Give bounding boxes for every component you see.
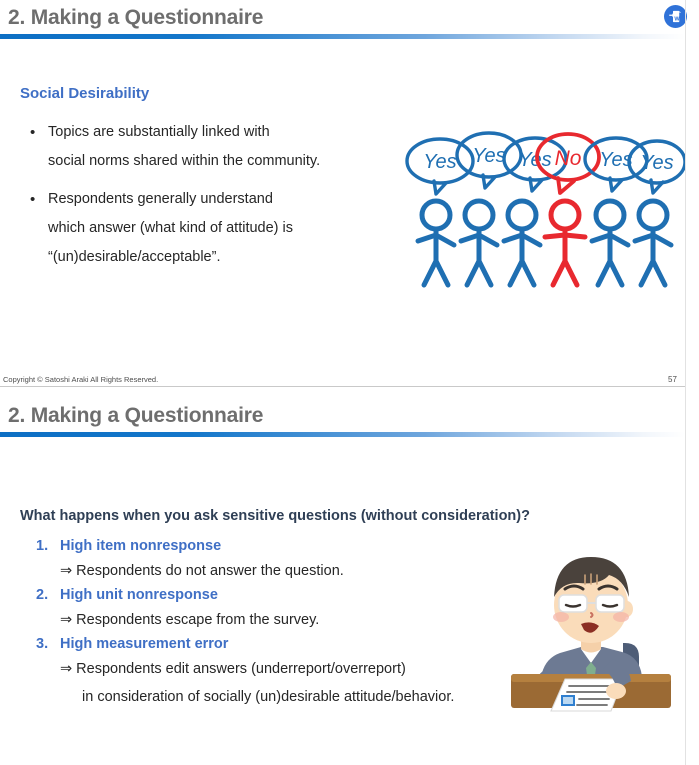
svg-text:Yes: Yes [640,152,673,174]
svg-text:Yes: Yes [423,151,456,173]
list-item: • Respondents generally understand which… [22,185,394,272]
list-item-detail-text: Respondents escape from the survey. [76,612,319,628]
yes-no-stick-figures-illustration: Yes Yes Yes [404,117,686,289]
list-item-detail: ⇒Respondents do not answer the question. [36,557,516,585]
word-export-icon[interactable]: W [664,5,687,28]
bullet-line: Respondents generally understand [48,185,394,214]
list-item: 2.High unit nonresponse ⇒Respondents esc… [36,585,516,634]
slide-2-title-rule [0,432,685,437]
slide-2-numbered-list: 1.High item nonresponse ⇒Respondents do … [36,536,516,711]
slide-1-bullet-list: • Topics are substantially linked with s… [22,118,394,281]
slide-deck: 2. Making a Questionnaire W Social Desir… [0,0,699,765]
double-arrow-icon: ⇒ [60,612,72,628]
svg-text:Yes: Yes [518,149,551,171]
list-item-title: High item nonresponse [60,538,221,554]
svg-text:Yes: Yes [472,145,505,167]
bullet-line: “(un)desirable/acceptable”. [48,243,394,272]
list-item-heading: 3.High measurement error [36,634,516,655]
double-arrow-icon: ⇒ [60,661,72,677]
list-item-number: 3. [36,634,60,655]
list-item-number: 2. [36,585,60,606]
list-item-number: 1. [36,536,60,557]
list-item-heading: 2.High unit nonresponse [36,585,516,606]
social-desirability-heading: Social Desirability [20,85,149,102]
right-edge-divider [685,0,686,765]
bullet-dot-icon: • [30,185,35,214]
list-item: 3.High measurement error ⇒Respondents ed… [36,634,516,711]
list-item: 1.High item nonresponse ⇒Respondents do … [36,536,516,585]
bullet-line: social norms shared within the community… [48,147,394,176]
bullet-line: Topics are substantially linked with [48,118,394,147]
footer-copyright: Copyright © Satoshi Araki All Rights Res… [3,375,158,384]
slide-2-title: 2. Making a Questionnaire [8,404,263,428]
list-item-title: High measurement error [60,636,228,652]
slide-social-desirability: 2. Making a Questionnaire W Social Desir… [0,0,699,394]
list-item-detail-text: Respondents edit answers (underreport/ov… [76,661,406,677]
sensitive-questions-heading: What happens when you ask sensitive ques… [20,508,530,524]
list-item-detail: ⇒Respondents edit answers (underreport/o… [36,655,516,683]
bullet-dot-icon: • [30,118,35,147]
list-item-title: High unit nonresponse [60,587,218,603]
slide-separator [0,386,685,387]
slide-1-title: 2. Making a Questionnaire [8,6,263,30]
list-item-heading: 1.High item nonresponse [36,536,516,557]
slide-1-title-rule [0,34,685,39]
svg-text:W: W [674,16,680,22]
list-item-detail: ⇒Respondents escape from the survey. [36,606,516,634]
bullet-line: which answer (what kind of attitude) is [48,214,394,243]
footer-page-number: 57 [668,375,677,384]
troubled-businessman-filling-form-illustration [497,525,685,715]
list-item: • Topics are substantially linked with s… [22,118,394,176]
list-item-detail-continued: in consideration of socially (un)desirab… [36,683,516,711]
list-item-detail-text: Respondents do not answer the question. [76,563,344,579]
svg-text:No: No [555,147,582,170]
double-arrow-icon: ⇒ [60,563,72,579]
